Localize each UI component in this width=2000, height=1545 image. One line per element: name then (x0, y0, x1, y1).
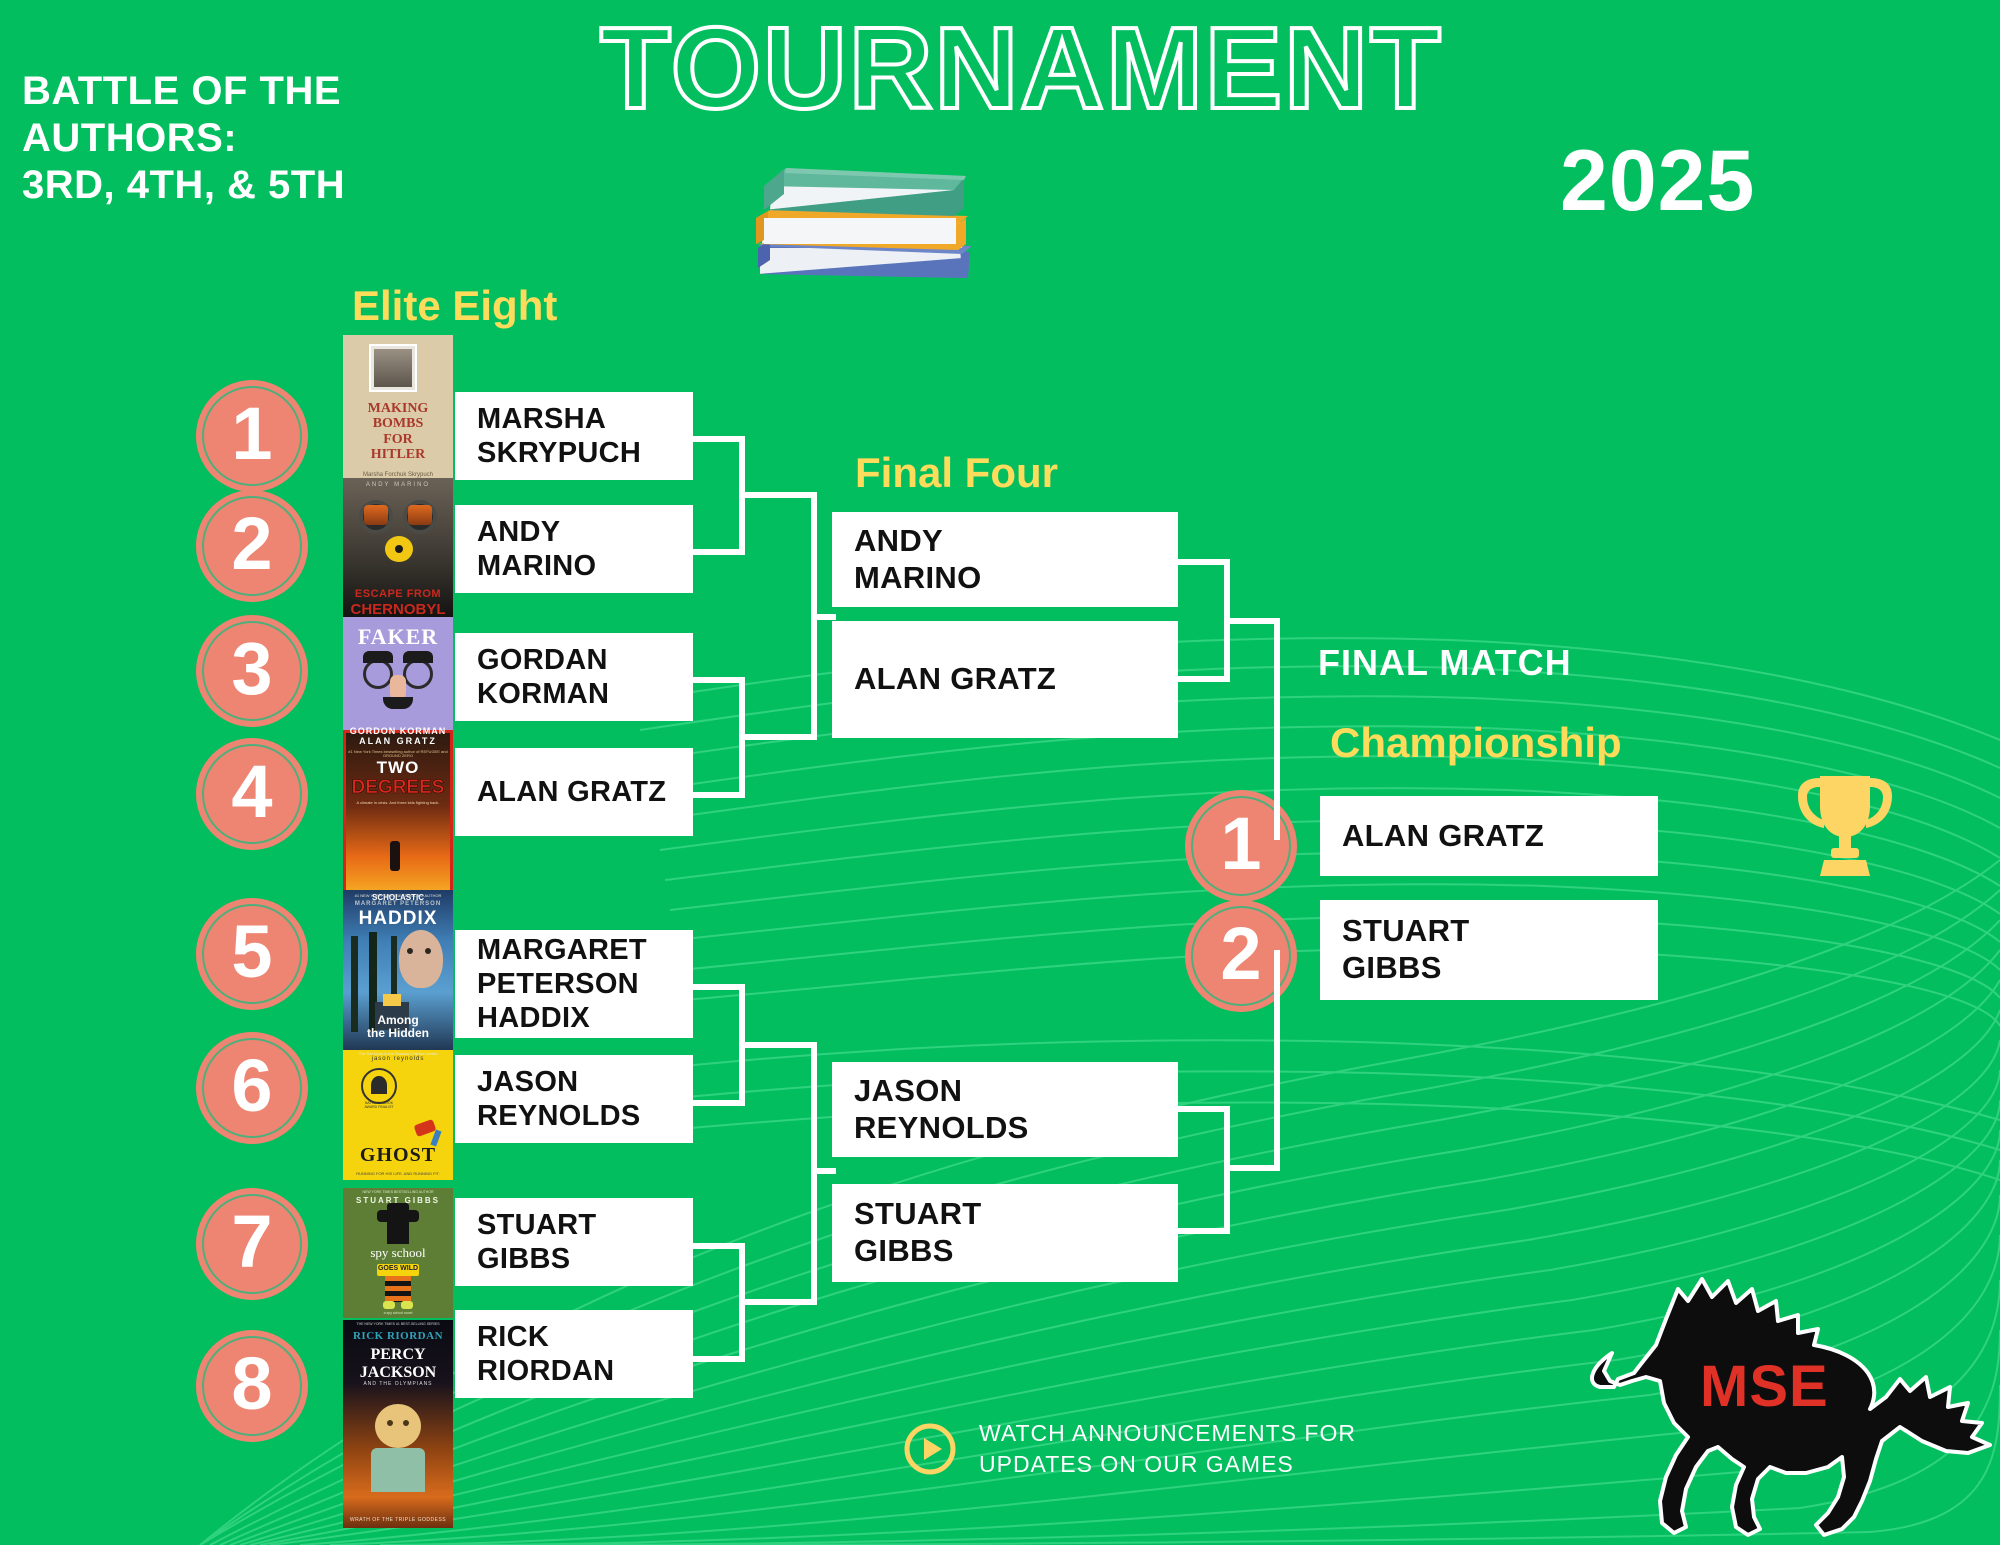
seed-number: 8 (231, 1347, 272, 1421)
bracket-line (1178, 1228, 1230, 1234)
final-four-box-4[interactable]: STUART GIBBS (832, 1184, 1178, 1282)
label-championship: Championship (1330, 722, 1622, 764)
final-four-box-2[interactable]: ALAN GRATZ (832, 621, 1178, 738)
bracket-line (1274, 950, 1280, 1171)
elite-eight-box-5[interactable]: MARGARET PETERSON HADDIX (455, 930, 693, 1038)
seed-number: 1 (1220, 807, 1261, 881)
bracket-line (1178, 1106, 1230, 1112)
announcement-block: WATCH ANNOUNCEMENTS FOR UPDATES ON OUR G… (903, 1418, 1356, 1480)
bracket-line (693, 1100, 745, 1106)
bracket-line (739, 1299, 817, 1305)
tournament-year: 2025 (1560, 138, 1755, 224)
seed-number: 2 (1220, 917, 1261, 991)
bracket-line (811, 1168, 836, 1174)
seed-circle-2: 2 (196, 490, 308, 602)
championship-seed-1: 1 (1185, 790, 1297, 902)
bracket-line (739, 492, 817, 498)
seed-number: 2 (231, 507, 272, 581)
seed-circle-4: 4 (196, 738, 308, 850)
bracket-line (1178, 676, 1230, 682)
book-cover-4: ALAN GRATZ #1 New York Times bestselling… (343, 730, 453, 908)
book-stack-icon (740, 128, 990, 308)
seed-number: 4 (231, 755, 272, 829)
play-icon[interactable] (903, 1422, 957, 1476)
book-cover-8: THE NEW YORK TIMES #1 BEST-SELLING SERIE… (343, 1320, 453, 1528)
mse-logo-text: MSE (1700, 1358, 1829, 1416)
seed-circle-7: 7 (196, 1188, 308, 1300)
championship-box-2[interactable]: STUART GIBBS (1320, 900, 1658, 1000)
label-elite-eight: Elite Eight (352, 285, 557, 327)
book-cover-7: NEW YORK TIMES BESTSELLING AUTHOR STUART… (343, 1188, 453, 1318)
book-cover-2: ANDY MARINO ESCAPE FROM CHERNOBYL (343, 478, 453, 626)
announcement-text: WATCH ANNOUNCEMENTS FOR UPDATES ON OUR G… (979, 1418, 1356, 1480)
bracket-line (693, 1356, 745, 1362)
headline-line-3: 3RD, 4TH, & 5TH (22, 162, 345, 209)
label-final-four: Final Four (855, 452, 1058, 494)
bracket-line (1224, 1165, 1280, 1171)
seed-number: 1 (231, 397, 272, 471)
book-cover-1: MAKINGBOMBSFORHITLER Marsha Forchuk Skry… (343, 335, 453, 483)
elite-eight-box-7[interactable]: STUART GIBBS (455, 1198, 693, 1286)
bracket-line (739, 734, 817, 740)
bracket-line (693, 677, 745, 683)
bracket-line (1274, 618, 1280, 840)
elite-eight-box-4[interactable]: ALAN GRATZ (455, 748, 693, 836)
trophy-icon (1786, 768, 1904, 880)
seed-circle-1: 1 (196, 380, 308, 492)
book-cover-3: FAKER GORDON KORMAN (343, 617, 453, 742)
bracket-line (1224, 618, 1280, 624)
book-cover-6: jason reynolds NATIONAL BOOK AWARD FINAL… (343, 1050, 453, 1180)
bracket-line (693, 436, 745, 442)
final-four-box-1[interactable]: ANDY MARINO (832, 512, 1178, 607)
bracket-line (693, 1243, 745, 1249)
seed-number: 6 (231, 1049, 272, 1123)
seed-circle-6: 6 (196, 1032, 308, 1144)
championship-seed-2: 2 (1185, 900, 1297, 1012)
seed-number: 3 (231, 632, 272, 706)
headline-line-2: AUTHORS: (22, 115, 345, 162)
elite-eight-box-2[interactable]: ANDY MARINO (455, 505, 693, 593)
headline-line-1: BATTLE OF THE (22, 68, 345, 115)
label-final-match: FINAL MATCH (1318, 645, 1572, 681)
elite-eight-box-1[interactable]: MARSHA SKRYPUCH (455, 392, 693, 480)
bracket-line (1178, 559, 1230, 565)
page-headline: BATTLE OF THE AUTHORS: 3RD, 4TH, & 5TH (22, 68, 345, 210)
book-cover-5: #1 NEW YORK TIMES BESTSELLING AUTHOR MAR… (343, 890, 453, 1060)
elite-eight-box-6[interactable]: JASON REYNOLDS (455, 1055, 693, 1143)
tournament-title: TOURNAMENT (600, 10, 1443, 126)
bracket-line (811, 614, 836, 620)
bracket-line (739, 1042, 817, 1048)
bracket-line (693, 984, 745, 990)
seed-circle-3: 3 (196, 615, 308, 727)
final-four-box-3[interactable]: JASON REYNOLDS (832, 1062, 1178, 1157)
bracket-line (693, 792, 745, 798)
seed-circle-5: 5 (196, 898, 308, 1010)
seed-circle-8: 8 (196, 1330, 308, 1442)
seed-number: 7 (231, 1205, 272, 1279)
elite-eight-box-3[interactable]: GORDAN KORMAN (455, 633, 693, 721)
bracket-line (693, 549, 745, 555)
seed-number: 5 (231, 915, 272, 989)
championship-box-1[interactable]: ALAN GRATZ (1320, 796, 1658, 876)
elite-eight-box-8[interactable]: RICK RIORDAN (455, 1310, 693, 1398)
